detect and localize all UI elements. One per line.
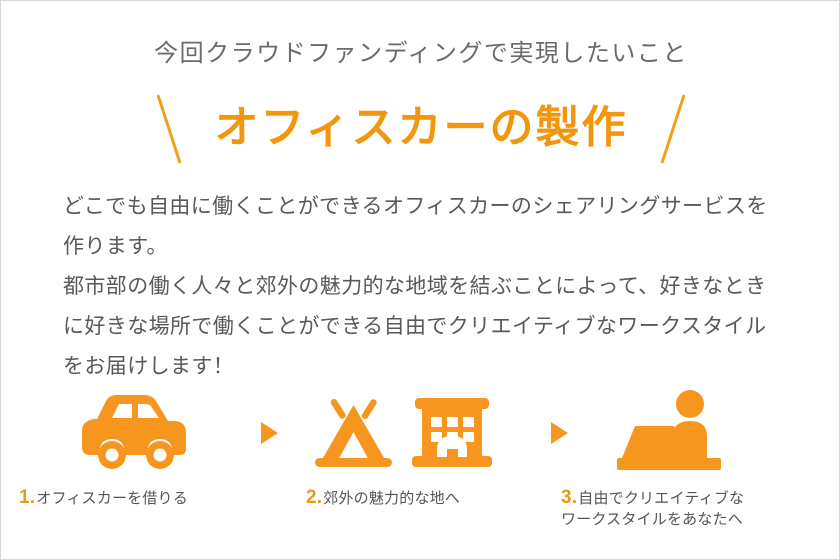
step-1-caption: 1.オフィスカーを借りる xyxy=(19,487,299,509)
tent-icon xyxy=(315,398,392,467)
step-3-caption: 3.自由でクリエイティブな ワークスタイルをあなたへ xyxy=(561,487,840,530)
body-paragraph-2: 都市部の働く人々と郊外の魅力的な地域を結ぶことによって、好きなときに好きな場所で… xyxy=(63,267,779,387)
building-icon xyxy=(412,398,492,467)
step-separator-arrow-2 xyxy=(529,387,589,479)
steps-captions: 1.オフィスカーを借りる 2.郊外の魅力的な地へ 3.自由でクリエイティブな ワ… xyxy=(1,487,840,547)
headline-row: オフィスカーの製作 xyxy=(1,89,840,167)
car-icon xyxy=(73,392,199,474)
crowdfunding-slide: 今回クラウドファンディングで実現したいこと オフィスカーの製作 どこでも自由に働… xyxy=(0,0,840,560)
step-1-label: オフィスカーを借りる xyxy=(36,490,188,507)
step-3-label-line-1: 自由でクリエイティブな xyxy=(578,490,744,507)
triangle-right-icon xyxy=(551,422,568,444)
triangle-right-icon xyxy=(261,422,278,444)
step-2-icon-slot xyxy=(311,387,511,479)
tent-and-building-icon xyxy=(311,392,501,474)
decorative-slash-right-icon xyxy=(644,91,702,165)
body-paragraph-1: どこでも自由に働くことができるオフィスカーのシェアリングサービスを作ります。 xyxy=(63,187,779,267)
person-laptop-icon xyxy=(611,390,731,476)
step-3-number: 3. xyxy=(561,487,577,508)
step-2-caption: 2.郊外の魅力的な地へ xyxy=(306,487,566,509)
step-separator-arrow-1 xyxy=(239,387,299,479)
step-3-label-line-2: ワークスタイルをあなたへ xyxy=(561,509,840,530)
body-copy: どこでも自由に働くことができるオフィスカーのシェアリングサービスを作ります。 都… xyxy=(63,187,779,387)
step-2-number: 2. xyxy=(306,487,322,508)
steps-icon-band xyxy=(1,387,840,479)
step-3-icon-slot xyxy=(601,387,791,479)
step-1-number: 1. xyxy=(19,487,35,508)
decorative-slash-left-icon xyxy=(140,91,198,165)
page-title: オフィスカーの製作 xyxy=(214,106,627,150)
step-2-label: 郊外の魅力的な地へ xyxy=(323,490,460,507)
steps-section: 1.オフィスカーを借りる 2.郊外の魅力的な地へ 3.自由でクリエイティブな ワ… xyxy=(1,387,840,547)
page-kicker: 今回クラウドファンディングで実現したいこと xyxy=(1,33,840,68)
